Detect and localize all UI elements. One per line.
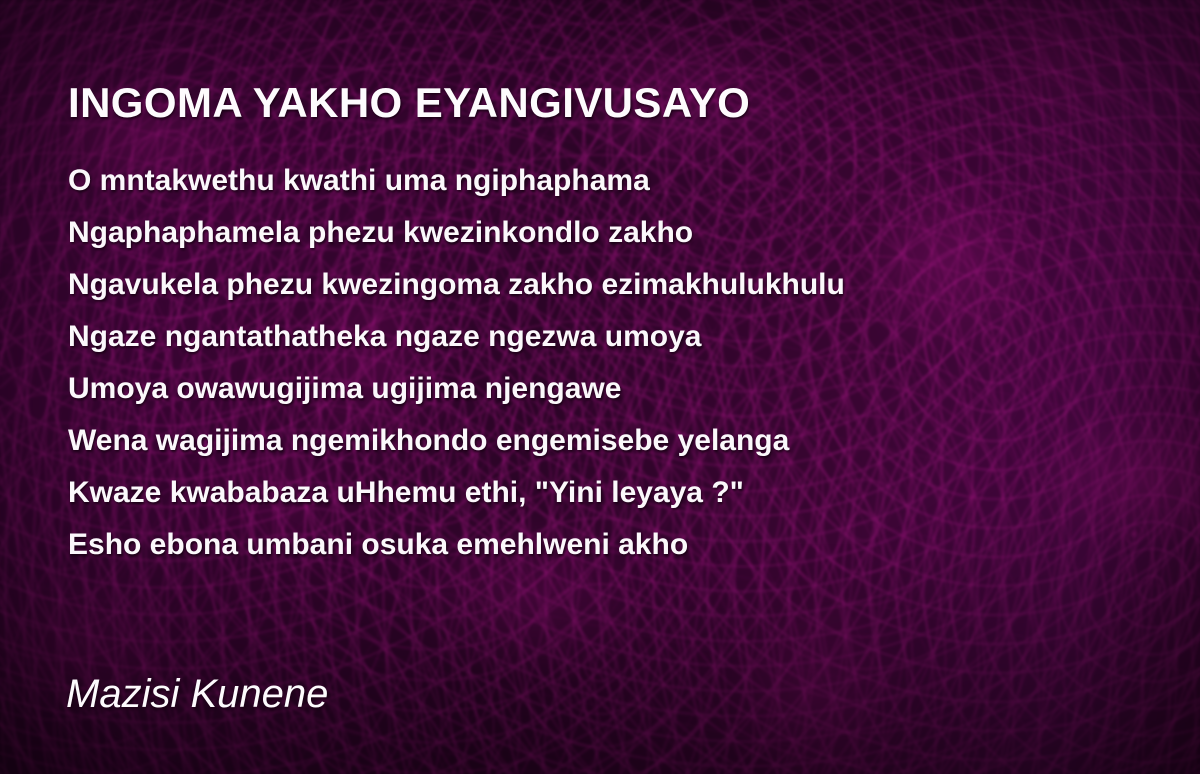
poem-title: INGOMA YAKHO EYANGIVUSAYO <box>68 79 750 127</box>
poem-line: Umoya owawugijima ugijima njengawe <box>68 363 1128 415</box>
poem-author: Mazisi Kunene <box>66 672 328 717</box>
poem-line: Esho ebona umbani osuka emehlweni akho <box>68 519 1128 571</box>
poem-line: Kwaze kwababaza uHhemu ethi, "Yini leyay… <box>68 467 1128 519</box>
poem-line: Ngaze ngantathatheka ngaze ngezwa umoya <box>68 311 1128 363</box>
poem-card: INGOMA YAKHO EYANGIVUSAYO O mntakwethu k… <box>0 0 1200 774</box>
poem-line: Wena wagijima ngemikhondo engemisebe yel… <box>68 415 1128 467</box>
poem-line: Ngaphaphamela phezu kwezinkondlo zakho <box>68 207 1128 259</box>
poem-body: O mntakwethu kwathi uma ngiphaphama Ngap… <box>68 155 1128 571</box>
poem-content: INGOMA YAKHO EYANGIVUSAYO O mntakwethu k… <box>0 0 1200 774</box>
poem-line: Ngavukela phezu kwezingoma zakho ezimakh… <box>68 259 1128 311</box>
poem-line: O mntakwethu kwathi uma ngiphaphama <box>68 155 1128 207</box>
